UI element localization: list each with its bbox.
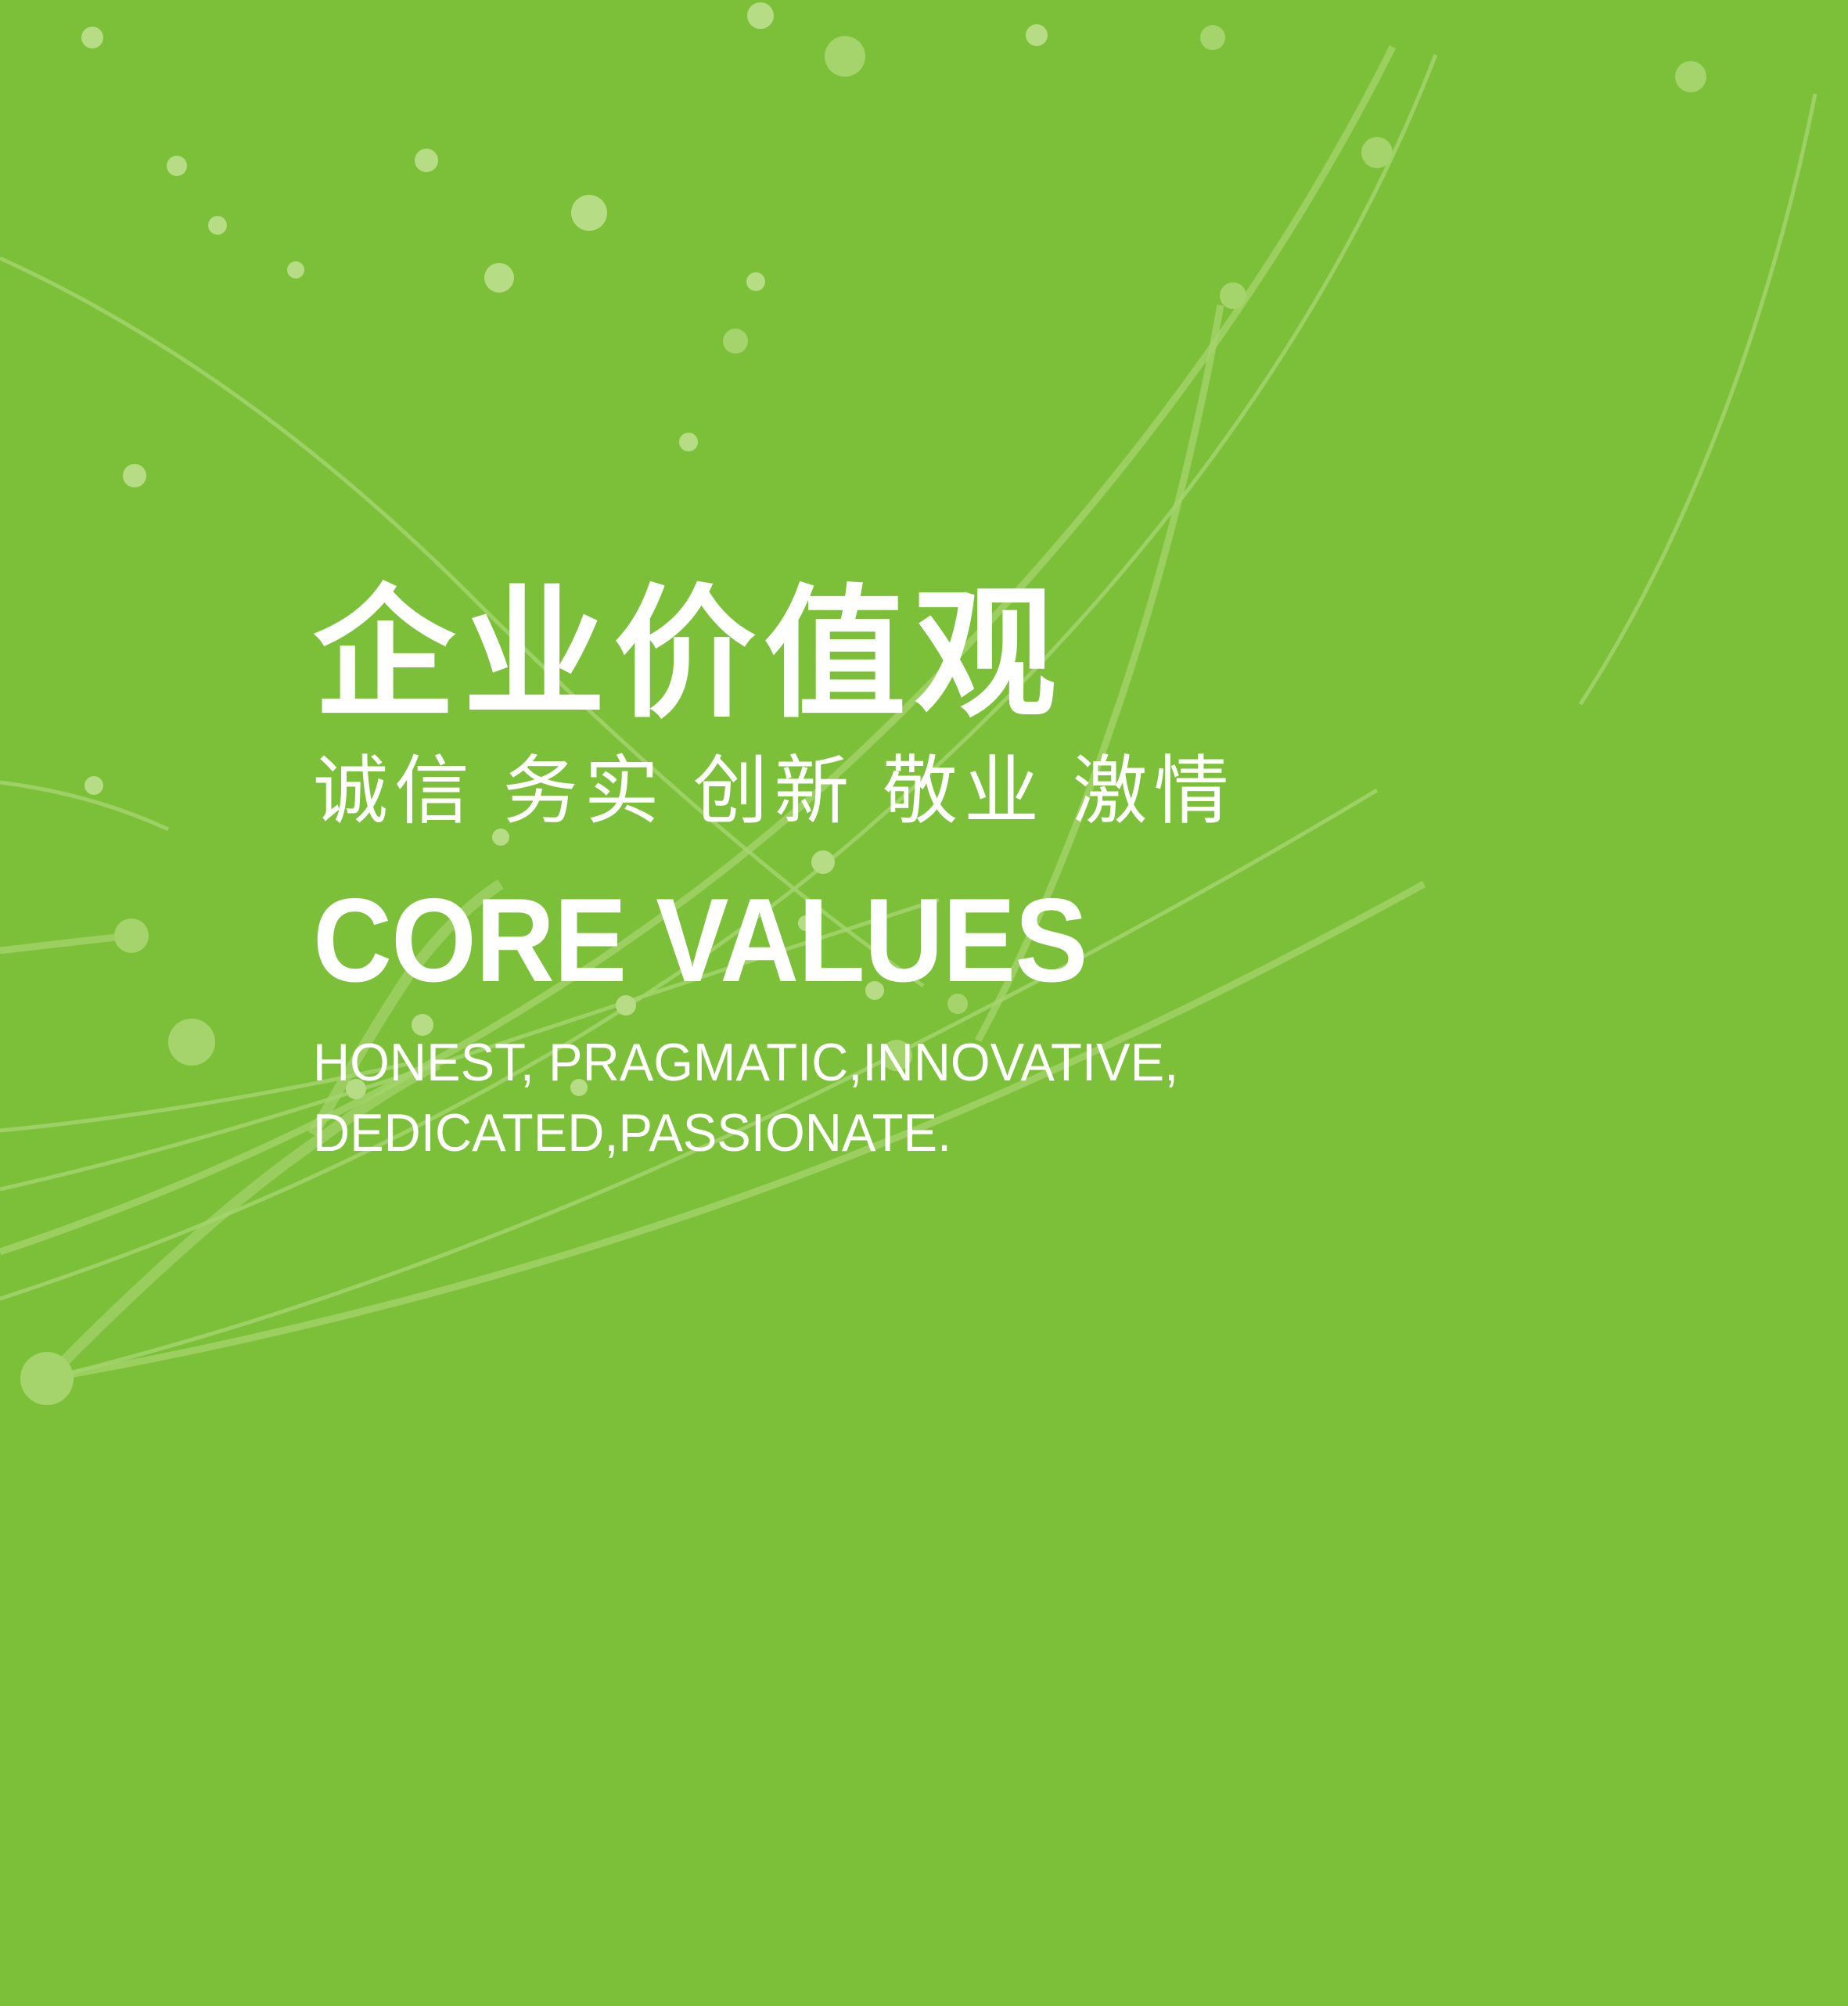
values-description-en-line-1: HONEST, PRAGMATIC,INNOVATIVE, xyxy=(313,1028,1665,1098)
values-description-en: HONEST, PRAGMATIC,INNOVATIVE, DEDICATED,… xyxy=(313,1028,1721,1169)
values-subtitle-cn: 诚信 务实 创新 敬业 激情 xyxy=(313,747,1721,836)
page-title-en: CORE VALUES xyxy=(313,881,1609,1000)
values-description-en-line-2: DEDICATED,PASSIONATE. xyxy=(313,1098,1665,1169)
core-values-poster: .ln { fill:none; stroke:#a5d46d; stroke-… xyxy=(0,0,1848,2006)
text-block: 企业价值观 诚信 务实 创新 敬业 激情 CORE VALUES HONEST,… xyxy=(313,579,1721,1169)
page-title-cn: 企业价值观 xyxy=(313,579,1721,730)
